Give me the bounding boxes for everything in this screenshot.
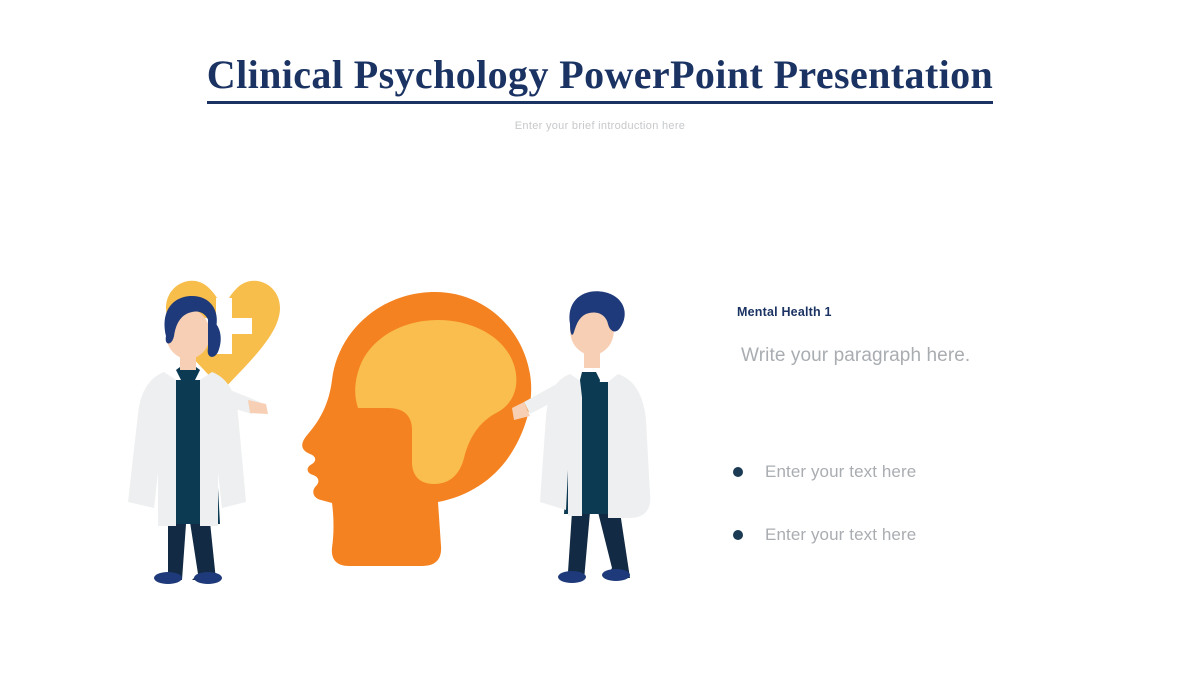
title-container: Clinical Psychology PowerPoint Presentat… [0,52,1200,104]
list-item[interactable]: Enter your text here [733,524,1153,546]
paragraph-placeholder[interactable]: Write your paragraph here. [741,345,1157,367]
head-silhouette-with-brain-icon [302,292,531,566]
bullet-dot-icon [733,467,743,477]
section-heading[interactable]: Mental Health 1 [737,305,1157,319]
page-title[interactable]: Clinical Psychology PowerPoint Presentat… [207,52,993,104]
content-column: Mental Health 1 Write your paragraph her… [737,305,1157,367]
slide-canvas: Clinical Psychology PowerPoint Presentat… [0,0,1200,675]
male-doctor-figure [512,291,650,583]
slide-subtitle[interactable]: Enter your brief introduction here [0,120,1200,132]
bullet-dot-icon [733,530,743,540]
list-item[interactable]: Enter your text here [733,461,1153,483]
illustration-graphic [120,262,700,592]
bullet-text[interactable]: Enter your text here [765,525,916,545]
bullet-text[interactable]: Enter your text here [765,462,916,482]
bullet-list: Enter your text here Enter your text her… [733,461,1153,587]
